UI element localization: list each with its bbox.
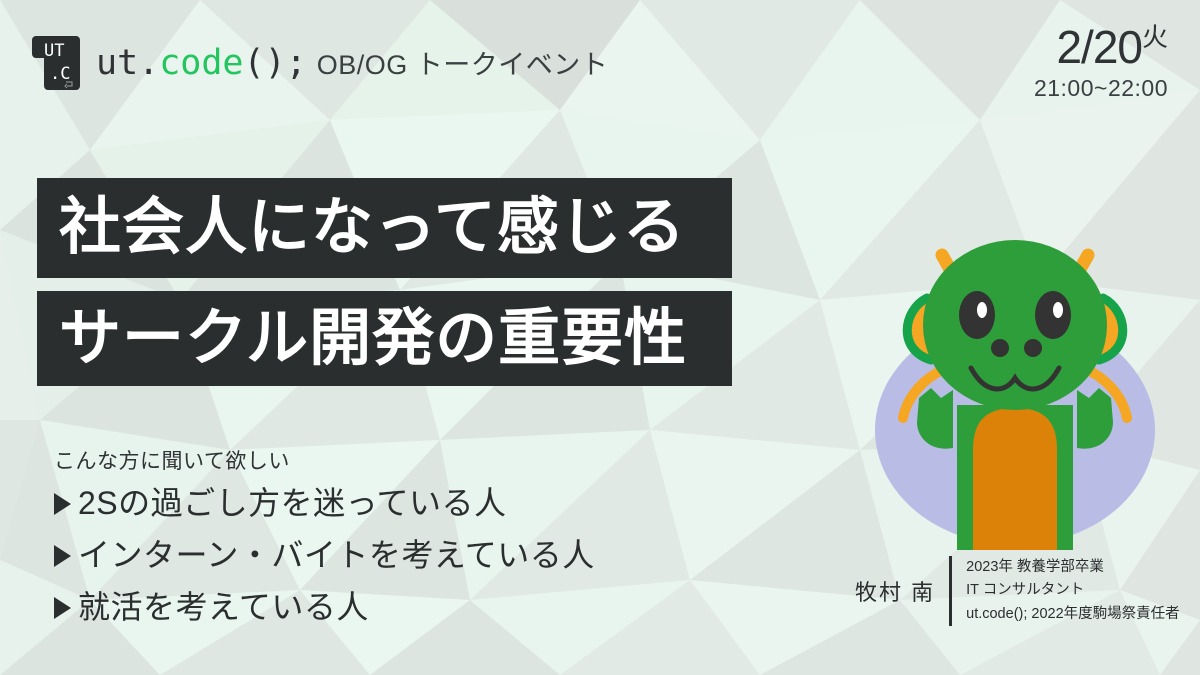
list-item: インターン・バイトを考えている人	[54, 530, 595, 582]
logo-line1-text: UT	[44, 41, 64, 61]
mascot-belly	[973, 408, 1057, 550]
event-date-day: 2/20	[1056, 21, 1142, 73]
brand-subtitle: OB/OG トークイベント	[317, 43, 609, 82]
event-date-block: 2/20火 21:00~22:00	[1034, 24, 1168, 104]
speaker-detail-line: IT コンサルタント	[966, 579, 1180, 602]
event-poster: UT .C ut.code(); OB/OG トークイベント 2/20火 21:…	[0, 0, 1200, 675]
brand-prefix: ut.	[96, 43, 159, 83]
title-line-2: サークル開発の重要性	[37, 291, 732, 386]
triangle-bullet-icon	[54, 597, 71, 619]
list-item: 就活を考えている人	[54, 582, 595, 634]
brand-code: code	[159, 43, 243, 83]
event-date: 2/20火	[1034, 24, 1168, 72]
speaker-details: 2023年 教養学部卒業 IT コンサルタント ut.code(); 2022年…	[952, 556, 1180, 626]
brand-header: UT .C ut.code(); OB/OG トークイベント	[30, 34, 608, 92]
audience-item-label: インターン・バイトを考えている人	[78, 530, 595, 582]
brand-wordmark: ut.code(); OB/OG トークイベント	[96, 43, 608, 83]
title-line-1: 社会人になって感じる	[37, 178, 732, 278]
triangle-bullet-icon	[54, 493, 71, 515]
speaker-block: 牧村 南 2023年 教養学部卒業 IT コンサルタント ut.code(); …	[855, 556, 1180, 626]
audience-item-label: 就活を考えている人	[78, 582, 369, 634]
mascot-head	[923, 240, 1107, 410]
triangle-bullet-icon	[54, 545, 71, 567]
utcode-logo-icon: UT .C	[30, 34, 82, 92]
logo-line2-text: .C	[50, 64, 70, 84]
list-item: 2Sの過ごし方を迷っている人	[54, 478, 595, 530]
speaker-detail-line: ut.code(); 2022年度駒場祭責任者	[966, 603, 1180, 626]
audience-item-label: 2Sの過ごし方を迷っている人	[78, 478, 507, 530]
speaker-detail-line: 2023年 教養学部卒業	[966, 556, 1180, 579]
speaker-name: 牧村 南	[855, 556, 949, 626]
brand-suffix: ();	[244, 43, 307, 83]
audience-heading: こんな方に聞いて欲しい	[54, 445, 290, 475]
event-date-weekday: 火	[1142, 22, 1168, 52]
dragon-mascot-icon	[845, 150, 1185, 550]
event-time: 21:00~22:00	[1034, 74, 1168, 104]
audience-list: 2Sの過ごし方を迷っている人 インターン・バイトを考えている人 就活を考えている…	[54, 478, 595, 633]
